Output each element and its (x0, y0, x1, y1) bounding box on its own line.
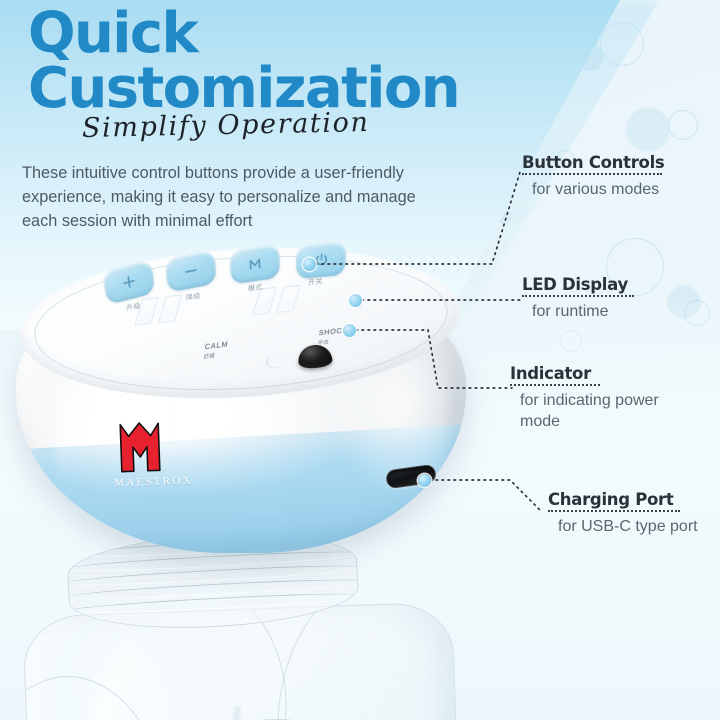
plus-icon (121, 273, 137, 290)
body-gloss-highlight (56, 383, 356, 493)
anchor-dot-indicator (343, 324, 356, 337)
callout-subtitle: for various modes (532, 179, 664, 200)
callout-underline (522, 295, 634, 297)
callout-subtitle: for runtime (532, 301, 634, 322)
callout-underline (548, 510, 680, 512)
callout-led-display: LED Display for runtime (522, 275, 634, 322)
anchor-dot-charging-port (418, 474, 431, 487)
mode-button-label: 模式 (248, 282, 263, 294)
body-paragraph: These intuitive control buttons provide … (22, 162, 442, 233)
power-button-label: 开关 (308, 276, 323, 287)
bottle-arc (272, 602, 464, 720)
callout-title: LED Display (522, 275, 634, 294)
header-block: Quick Customization Simplify Operation (28, 8, 548, 144)
mode-m-icon (247, 256, 262, 272)
callout-charging-port: Charging Port for USB-C type port (548, 490, 698, 537)
callout-underline (510, 384, 600, 386)
minus-icon (184, 263, 199, 280)
anchor-dot-led-display (349, 294, 362, 307)
callout-button-controls: Button Controls for various modes (522, 153, 664, 200)
calm-mode-caption: CALM 舒缓 (203, 339, 229, 360)
bottle-assembly (0, 527, 518, 720)
callout-underline (522, 173, 662, 175)
breast-pump-product-image: CALM 舒缓 SHOCK 冲击 (8, 245, 478, 575)
callout-subtitle: for USB-C type port (558, 516, 698, 537)
infographic-canvas: Quick Customization Simplify Operation T… (0, 0, 720, 720)
callout-subtitle: for indicating power mode (520, 390, 695, 432)
page-title-line1: Quick (28, 8, 548, 61)
bubble-outline (668, 110, 698, 140)
callout-title: Charging Port (548, 490, 698, 509)
callout-title: Button Controls (522, 153, 664, 172)
maestrox-logo-icon (117, 420, 163, 474)
anchor-dot-button-controls (303, 258, 316, 271)
callout-indicator: Indicator for indicating power mode (510, 364, 695, 432)
callout-title: Indicator (510, 364, 695, 383)
